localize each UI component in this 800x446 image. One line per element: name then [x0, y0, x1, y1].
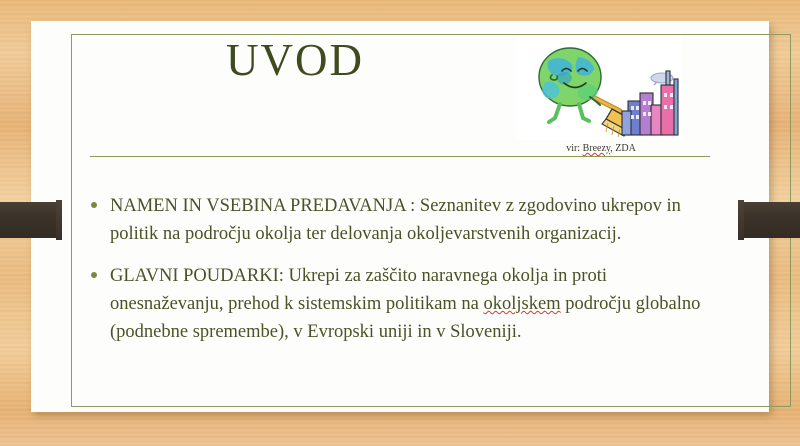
slide-title: UVOD: [90, 33, 500, 87]
ribbon-bar-left: [0, 202, 58, 238]
ribbon-cap-right: [738, 200, 744, 240]
bullet-text-glavni-poudarki: GLAVNI POUDARKI: Ukrepi za zaščito narav…: [110, 262, 718, 346]
earth-sweeping-image: [516, 35, 682, 140]
ribbon-cap-left: [56, 200, 62, 240]
bullet-item-glavni-poudarki: GLAVNI POUDARKI: Ukrepi za zaščito narav…: [88, 262, 718, 346]
slide-body-bullets: NAMEN IN VSEBINA PREDAVANJA : Seznanitev…: [88, 192, 718, 360]
caption-prefix: vir:: [566, 143, 582, 154]
ribbon-bar-right: [742, 202, 800, 238]
bullet-text-namen-in-vsebina: NAMEN IN VSEBINA PREDAVANJA : Seznanitev…: [110, 192, 718, 248]
caption-suffix: , ZDA: [610, 143, 636, 154]
picture-caption: vir: Breezy, ZDA: [506, 143, 696, 154]
bullet-item-namen-in-vsebina: NAMEN IN VSEBINA PREDAVANJA : Seznanitev…: [88, 192, 718, 248]
bullet-text-misspelled-word: okoljskem: [484, 294, 561, 314]
caption-source: Breezy: [583, 143, 611, 154]
title-divider-rule: [90, 156, 710, 157]
presentation-slide: UVOD: [0, 0, 800, 446]
